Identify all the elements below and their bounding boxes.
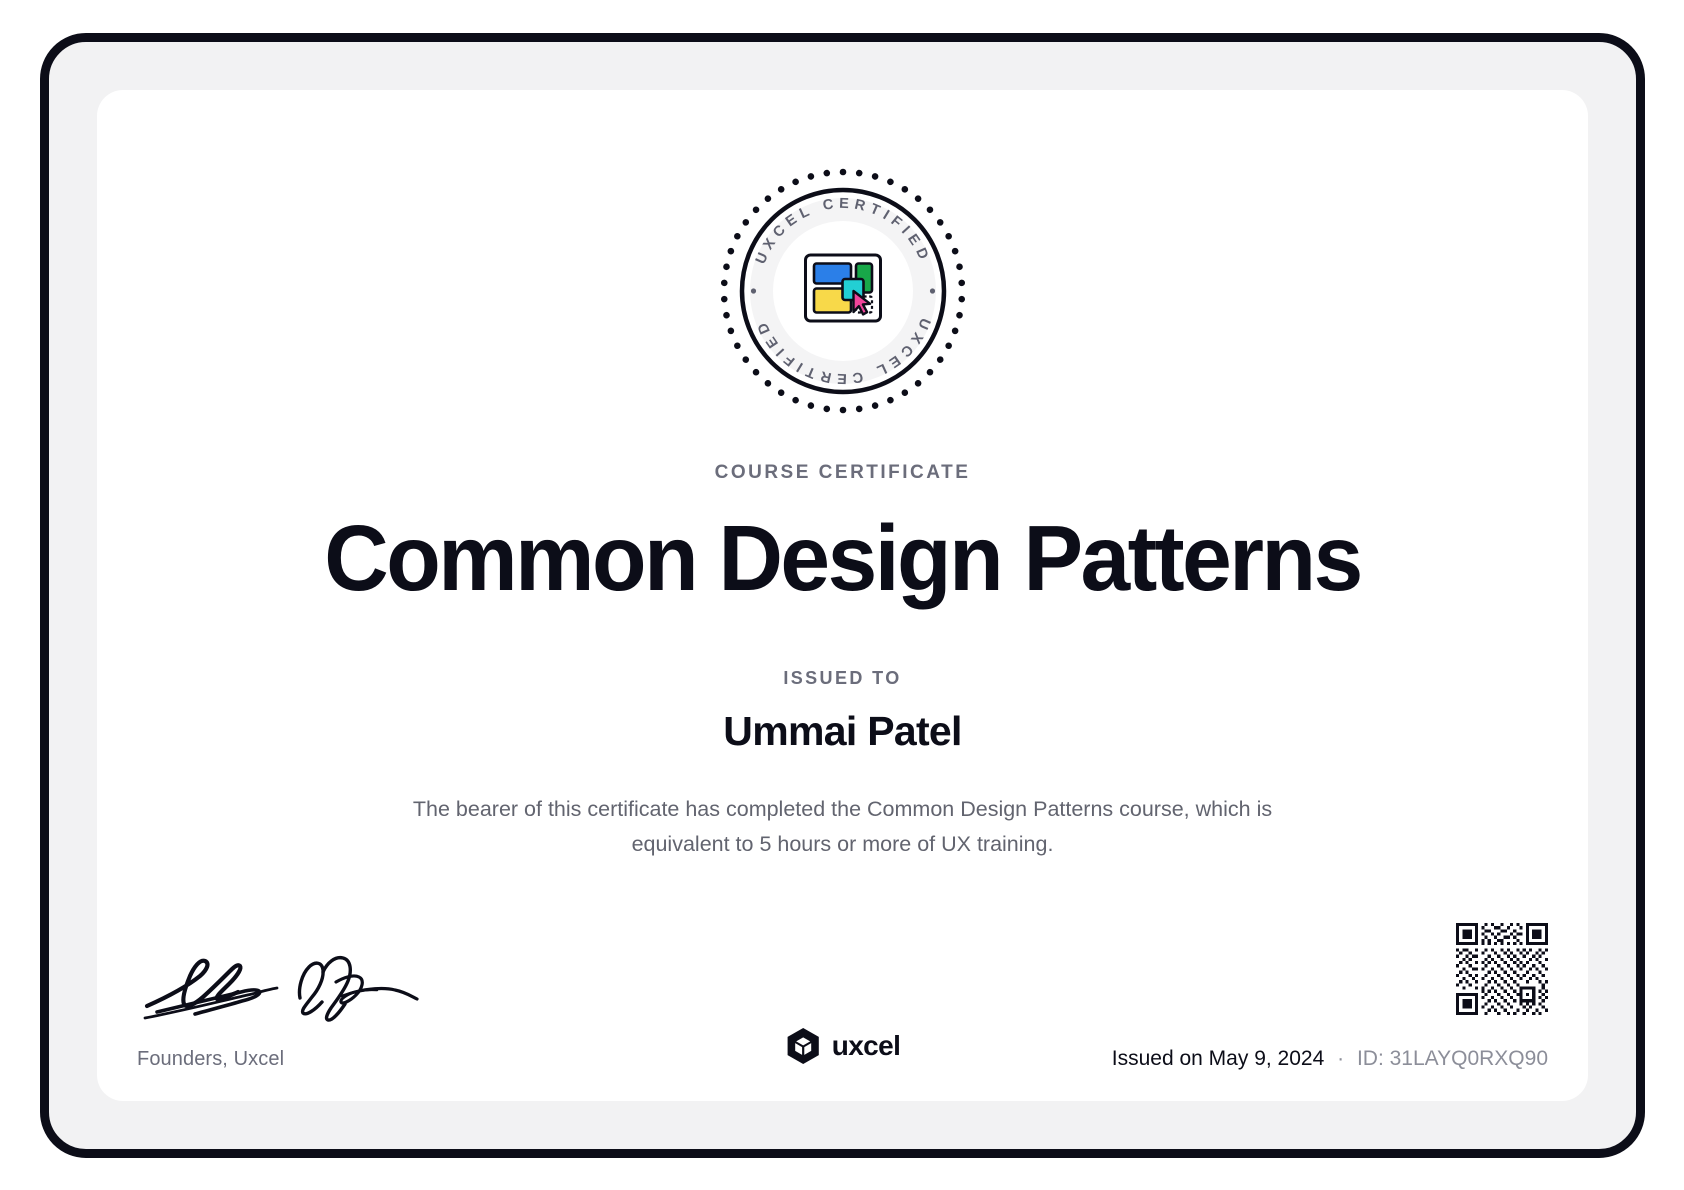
uxcel-wordmark: uxcel <box>832 1030 901 1062</box>
issue-metadata: Issued on May 9, 2024 · ID: 31LAYQ0RXQ90 <box>1112 1047 1548 1071</box>
seal-bullet-right <box>929 288 934 293</box>
certificate-id: ID: 31LAYQ0RXQ90 <box>1357 1047 1548 1070</box>
certificate-description: The bearer of this certificate has compl… <box>403 792 1283 862</box>
page-title: Common Design Patterns <box>127 510 1558 607</box>
issue-date: Issued on May 9, 2024 <box>1112 1047 1324 1070</box>
certificate-root: UXCEL CERTIFIED UXCEL CERTIFIED <box>0 0 1684 1190</box>
design-patterns-icon <box>805 255 880 321</box>
founder-signatures <box>137 952 427 1030</box>
uxcel-cube-icon <box>785 1027 821 1065</box>
certificate-footer: Founders, Uxcel uxcel <box>97 901 1588 1101</box>
issued-to-label: ISSUED TO <box>97 668 1588 689</box>
uxcel-logo: uxcel <box>785 1027 901 1065</box>
meta-separator: · <box>1337 1047 1344 1070</box>
uxcel-certified-seal: UXCEL CERTIFIED UXCEL CERTIFIED <box>715 163 971 419</box>
signature-caption: Founders, Uxcel <box>137 1048 467 1071</box>
eyebrow-label: COURSE CERTIFICATE <box>97 462 1588 484</box>
certificate-frame: UXCEL CERTIFIED UXCEL CERTIFIED <box>40 33 1645 1158</box>
certificate-panel: UXCEL CERTIFIED UXCEL CERTIFIED <box>97 90 1588 1101</box>
certificate-qr-code[interactable] <box>1456 923 1548 1015</box>
signature-block: Founders, Uxcel <box>137 952 467 1071</box>
seal-bullet-left <box>750 288 755 293</box>
recipient-name: Ummai Patel <box>97 708 1588 755</box>
